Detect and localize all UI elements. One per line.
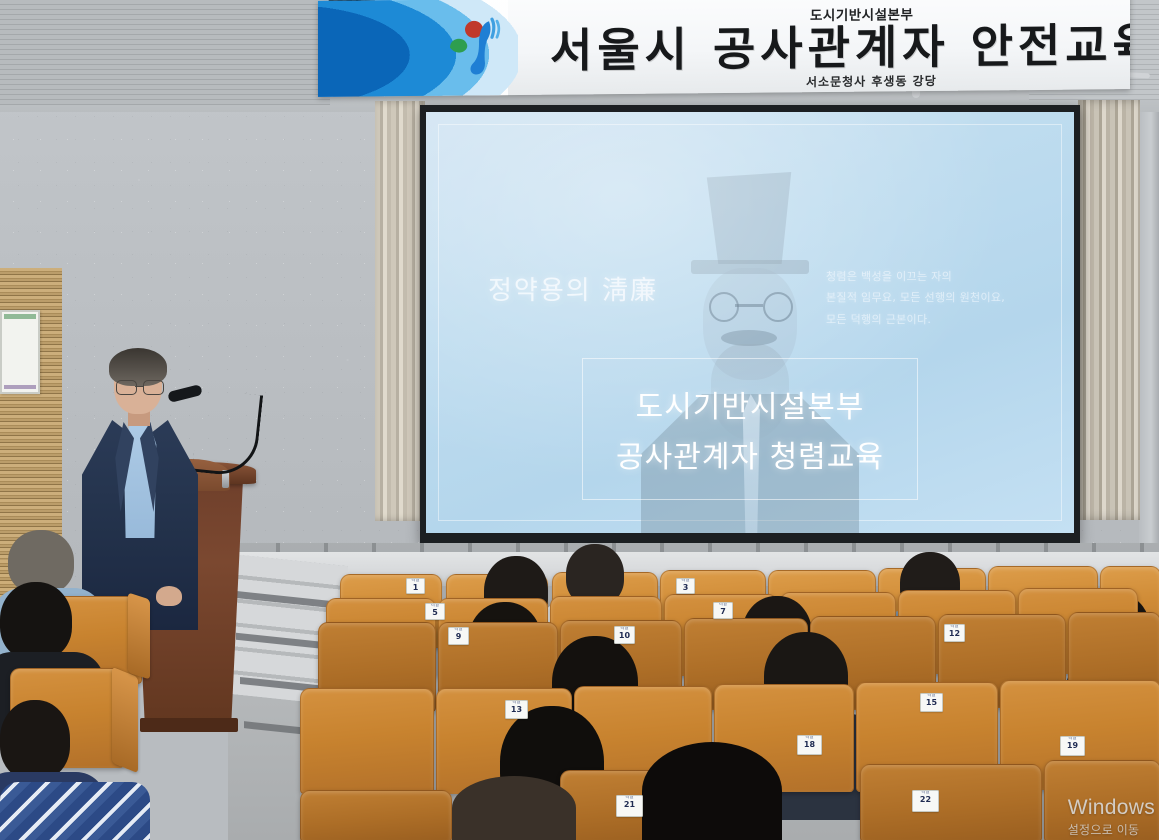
gat-hat-icon	[701, 172, 797, 264]
slide-quote-line: 청렴은 백성을 이끄는 자의	[826, 266, 1056, 287]
slide-title-box: 도시기반시설본부 공사관계자 청렴교육	[582, 358, 918, 500]
seat-number-label: 나열 1	[406, 578, 425, 594]
presenter-glasses-icon	[115, 380, 163, 394]
framed-poster	[0, 310, 40, 394]
stage-curtain-left	[375, 101, 425, 521]
seat-number-label: 나열 21	[616, 795, 643, 817]
seat-number-label: 나열 13	[505, 700, 528, 719]
auditorium-seat[interactable]	[300, 688, 434, 794]
seat-number-text: 7	[714, 608, 732, 616]
seat-number-text: 13	[506, 706, 527, 714]
seat-armrest	[128, 592, 150, 679]
seat-number-label: 나열 22	[912, 790, 939, 812]
seat-number-text: 22	[913, 796, 938, 804]
audience-head	[452, 776, 576, 840]
podium-base	[140, 718, 238, 732]
seat-number-text: 5	[426, 609, 444, 617]
banner-venue: 서소문청사 후생동 강당	[806, 72, 937, 90]
auditorium-seat[interactable]	[860, 764, 1042, 840]
seat-number-text: 18	[798, 741, 821, 749]
seoul-city-logo	[448, 13, 512, 80]
seat-number-label: 나열 7	[713, 602, 733, 619]
seat-armrest	[112, 667, 138, 774]
seat-number-label: 나열 12	[944, 624, 965, 642]
audience-head	[642, 742, 782, 840]
seat-number-label: 나열 15	[920, 693, 943, 712]
ceiling-grid-left	[0, 0, 330, 105]
slide-quote-line: 본질적 임무요, 모든 선행의 원천이요,	[826, 287, 1056, 308]
seat-number-text: 12	[945, 630, 964, 638]
seat-number-text: 15	[921, 699, 942, 707]
slide-quote: 청렴은 백성을 이끄는 자의 본질적 임무요, 모든 선행의 원천이요, 모든 …	[826, 266, 1056, 330]
seat-number-text: 1	[407, 584, 424, 592]
seat-number-text: 21	[617, 801, 642, 809]
auditorium-seat[interactable]	[1044, 760, 1159, 840]
presenter-hand	[156, 586, 182, 606]
slide-title-line1: 도시기반시설본부	[636, 382, 865, 426]
seat-number-label: 나열 3	[676, 578, 695, 594]
seat-number-label: 나열 19	[1060, 736, 1085, 756]
seat-number-label: 나열 5	[425, 603, 445, 620]
event-banner: 도시기반시설본부 서울시 공사관계자 안전교육 서소문청사 후생동 강당	[318, 0, 1130, 97]
auditorium-seat[interactable]	[300, 790, 452, 840]
seat-number-text: 9	[449, 633, 468, 641]
projection-screen: 정약용의 淸廉 청렴은 백성을 이끄는 자의 본질적 임무요, 모든 선행의 원…	[426, 112, 1074, 533]
seat-number-label: 나열 9	[448, 627, 469, 645]
seat-number-label: 나열 10	[614, 626, 635, 644]
glasses-icon	[703, 292, 797, 318]
seat-number-text: 3	[677, 584, 694, 592]
slide-quote-line: 모든 덕행의 근본이다.	[826, 309, 1056, 330]
audience-head	[0, 582, 72, 660]
stage-curtain-right	[1078, 100, 1140, 520]
auditorium-photo: 도시기반시설본부 서울시 공사관계자 안전교육 서소문청사 후생동 강당 정약용…	[0, 0, 1159, 840]
seat-number-text: 10	[615, 632, 634, 640]
audience-body	[0, 782, 150, 840]
banner-title: 서울시 공사관계자 안전교육	[550, 9, 1130, 81]
seat-number-label: 나열 18	[797, 735, 822, 755]
slide-subtitle: 정약용의 淸廉	[488, 270, 658, 307]
stage-edge-trim	[232, 543, 1159, 552]
projection-screen-frame: 정약용의 淸廉 청렴은 백성을 이끄는 자의 본질적 임무요, 모든 선행의 원…	[420, 105, 1080, 543]
seat-number-text: 19	[1061, 742, 1084, 750]
audience-head	[0, 700, 70, 780]
slide-title-line2: 공사관계자 청렴교육	[616, 432, 884, 476]
right-wall-pillar	[1139, 96, 1159, 566]
